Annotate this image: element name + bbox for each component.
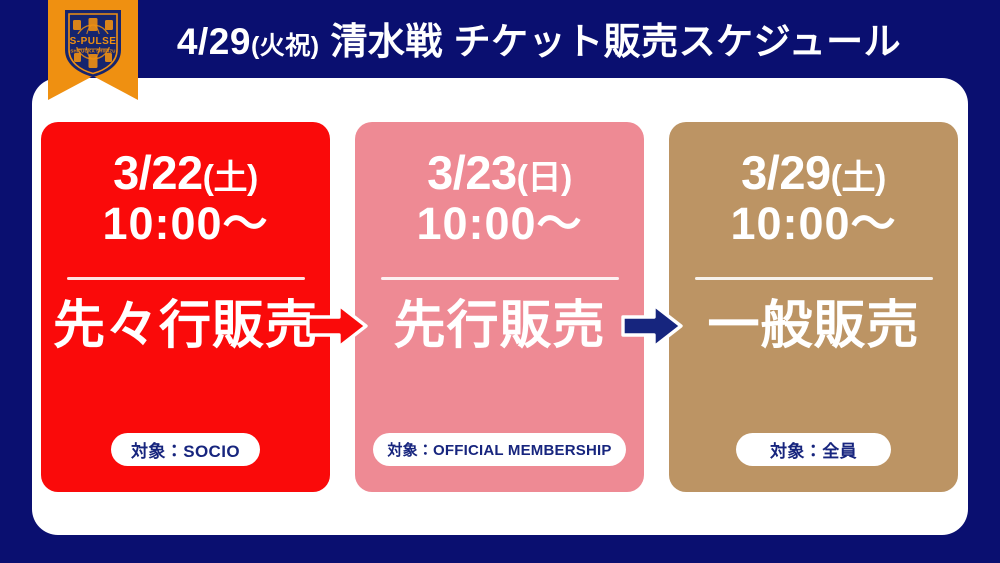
header-bar: 4/29(火祝) 清水戦 チケット販売スケジュール xyxy=(0,0,1000,82)
card-time: 10:00〜 xyxy=(102,199,268,249)
club-logo-banner: S-PULSE SHIZUOKA SHIMIZU xyxy=(48,0,138,100)
card-sale-type: 一般販売 xyxy=(707,300,919,352)
schedule-card-row: 3/22(土) 10:00〜 先々行販売 対象：SOCIO 3/23(日) 10… xyxy=(32,78,968,535)
card-sale-type: 先々行販売 xyxy=(53,300,318,352)
title-rest: 清水戦 チケット販売スケジュール xyxy=(320,21,901,62)
card-divider xyxy=(695,277,933,280)
card-day-of-week: (土) xyxy=(831,159,886,197)
card-date: 3/22(土) xyxy=(113,148,258,198)
card-time: 10:00〜 xyxy=(416,199,582,249)
card-audience-badge: 対象：OFFICIAL MEMBERSHIP xyxy=(373,433,625,466)
schedule-graphic: 4/29(火祝) 清水戦 チケット販売スケジュール S-PULSE SHIZUO… xyxy=(0,0,1000,563)
card-day-of-week: (土) xyxy=(203,159,258,197)
s-pulse-crest-icon: S-PULSE SHIZUOKA SHIMIZU xyxy=(60,6,126,80)
card-audience-badge: 対象：全員 xyxy=(736,433,891,466)
schedule-card-ippan[interactable]: 3/29(土) 10:00〜 一般販売 対象：全員 xyxy=(669,122,958,492)
arrow-right-icon-2 xyxy=(621,302,683,350)
card-date: 3/29(土) xyxy=(741,148,886,198)
svg-text:SHIZUOKA SHIMIZU: SHIZUOKA SHIMIZU xyxy=(70,49,115,54)
card-divider xyxy=(67,277,305,280)
page-title: 4/29(火祝) 清水戦 チケット販売スケジュール xyxy=(99,23,901,60)
card-day-of-week: (日) xyxy=(517,159,572,197)
card-sale-type: 先行販売 xyxy=(393,300,605,352)
card-date-value: 3/22 xyxy=(113,146,202,199)
schedule-card-senzenko[interactable]: 3/22(土) 10:00〜 先々行販売 対象：SOCIO xyxy=(41,122,330,492)
title-date: 4/29 xyxy=(177,21,251,62)
card-date-value: 3/29 xyxy=(741,146,830,199)
card-divider xyxy=(381,277,619,280)
card-date: 3/23(日) xyxy=(427,148,572,198)
arrow-right-icon-1 xyxy=(306,302,368,350)
card-time: 10:00〜 xyxy=(730,199,896,249)
schedule-card-senko[interactable]: 3/23(日) 10:00〜 先行販売 対象：OFFICIAL MEMBERSH… xyxy=(355,122,644,492)
card-date-value: 3/23 xyxy=(427,146,516,199)
card-audience-badge: 対象：SOCIO xyxy=(111,433,260,466)
title-day-of-week: (火祝) xyxy=(251,32,320,60)
svg-text:S-PULSE: S-PULSE xyxy=(70,36,117,47)
